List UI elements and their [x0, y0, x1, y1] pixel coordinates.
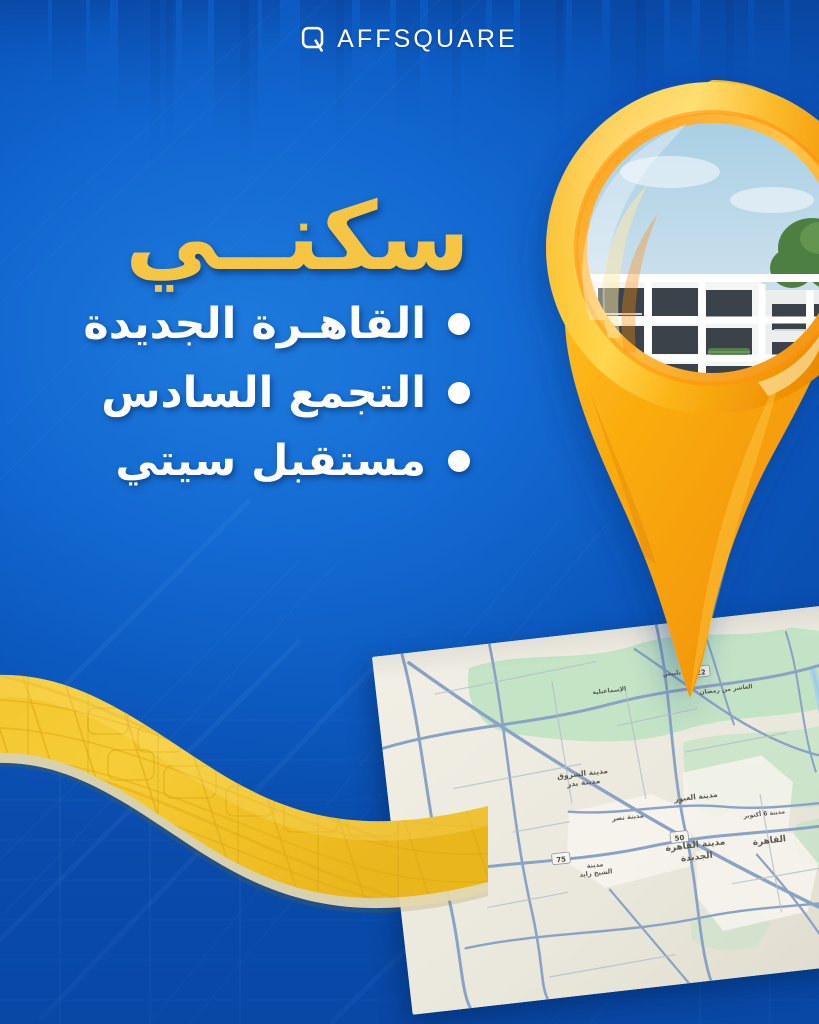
brand-logo[interactable]: AFFSQUARE [0, 26, 819, 53]
poster-canvas: 75 50 22 101 مدينة الشروق مدينة بدر مدين… [0, 0, 819, 1024]
bullet-dot-icon [448, 313, 470, 335]
affsquare-q-mark-icon [301, 26, 328, 53]
paper-map-graphic: 75 50 22 101 مدينة الشروق مدينة بدر مدين… [372, 598, 819, 1015]
location-list: القاهـرة الجديدة التجمع السادس مستقبل سي… [83, 301, 470, 484]
list-item-label: مستقبل سيتي [115, 438, 426, 484]
list-item-label: القاهـرة الجديدة [83, 301, 426, 347]
brand-wordmark: AFFSQUARE [337, 27, 518, 52]
bullet-dot-icon [448, 450, 470, 472]
list-item[interactable]: التجمع السادس [83, 370, 470, 416]
bullet-dot-icon [448, 382, 470, 404]
page-title: سكنــي [83, 193, 470, 283]
copy-block: سكنــي القاهـرة الجديدة التجمع السادس مس… [83, 193, 470, 507]
list-item[interactable]: القاهـرة الجديدة [83, 301, 470, 347]
list-item[interactable]: مستقبل سيتي [83, 438, 470, 484]
list-item-label: التجمع السادس [101, 370, 426, 416]
svg-text:75: 75 [556, 855, 567, 864]
svg-text:22: 22 [696, 668, 707, 677]
